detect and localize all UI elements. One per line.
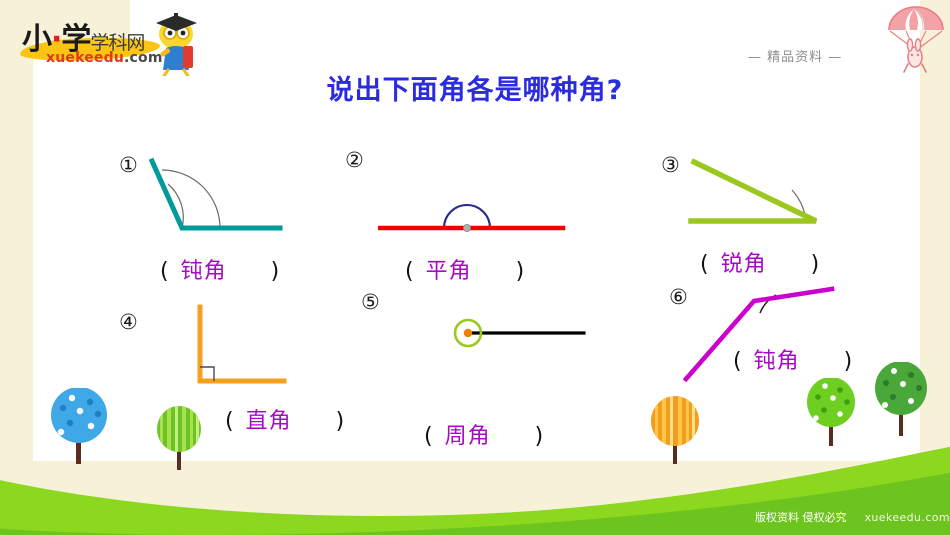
problem-number-4: ④ [119,312,138,333]
answer-1[interactable]: (钝角) [160,253,279,285]
orange-striped-tree [650,396,700,468]
slide-canvas: 小·学学科网 xuekeedu.com — 精品资料 — [0,0,950,535]
angle-figure-1 [140,150,290,244]
answer-word-6: 钝角 [742,349,810,374]
answer-3[interactable]: (锐角) [700,246,819,278]
footer-copyright-text: 版权资料 侵权必究 [755,511,847,524]
footer-site-text: xuekeedu.com [865,511,950,524]
answer-paren-close-5: ) [535,424,544,449]
angle-figure-2 [378,196,568,240]
green-striped-tree [156,406,202,474]
white-header-panel [130,0,920,41]
answer-paren-open-4: ( [225,409,234,434]
problem-number-1: ① [119,155,138,176]
watermark-text: — 精品资料 — [748,46,842,65]
footer-copyright: 版权资料 侵权必究xuekeedu.com [755,509,950,525]
answer-paren-open-2: ( [405,259,414,284]
site-logo[interactable]: 小·学学科网 xuekeedu.com [18,8,193,70]
answer-paren-open-6: ( [733,349,742,374]
answer-paren-close-6: ) [844,349,853,374]
bright-green-dotted-tree [806,378,858,450]
answer-word-5: 周角 [433,424,501,449]
answer-paren-close-1: ) [271,259,280,284]
answer-paren-close-4: ) [336,409,345,434]
answer-paren-open-3: ( [700,252,709,277]
angle-figure-5 [448,312,588,358]
problem-number-5: ⑤ [361,292,380,313]
problem-number-2: ② [345,150,364,171]
answer-word-1: 钝角 [169,259,237,284]
problem-number-3: ③ [661,155,680,176]
dark-green-dotted-tree [874,362,930,440]
page-title: 说出下面角各是哪种角? [0,68,950,107]
answer-paren-close-2: ) [516,259,525,284]
answer-paren-open-5: ( [424,424,433,449]
angle-figure-3 [688,155,828,239]
answer-4[interactable]: (直角) [225,403,344,435]
answer-6[interactable]: (钝角) [733,343,852,375]
answer-word-2: 平角 [414,259,482,284]
mascot-graduate-icon [146,10,206,76]
answer-paren-open-1: ( [160,259,169,284]
answer-word-4: 直角 [234,409,302,434]
blue-dotted-tree [48,388,112,468]
angle-figure-4 [196,303,296,392]
answer-word-3: 锐角 [709,252,777,277]
answer-2[interactable]: (平角) [405,253,524,285]
answer-paren-close-3: ) [811,252,820,277]
parachute-rabbit-icon [884,2,948,78]
answer-5[interactable]: (周角) [424,418,543,450]
